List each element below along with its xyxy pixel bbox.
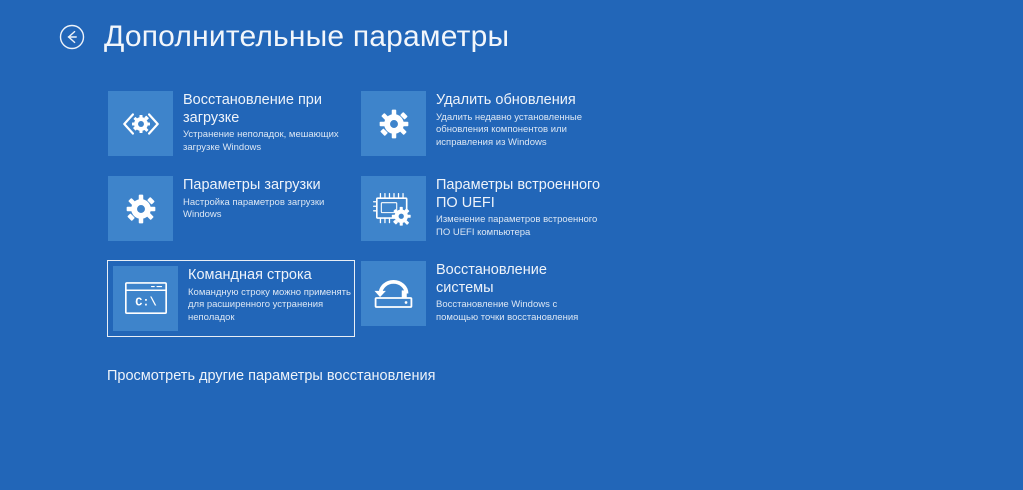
option-tile-startup-repair[interactable]: Восстановление при загрузке Устранение н… xyxy=(107,90,355,167)
option-title: Командная строка xyxy=(188,267,353,285)
page-title: Дополнительные параметры xyxy=(104,22,509,52)
option-description: Изменение параметров встроенного ПО UEFI… xyxy=(436,214,601,239)
system-restore-icon xyxy=(361,261,426,326)
option-description: Восстановление Windows с помощью точки в… xyxy=(436,299,601,324)
option-title: Восстановление системы xyxy=(436,262,607,297)
option-text: Восстановление при загрузке Устранение н… xyxy=(173,91,354,154)
option-description: Командную строку можно применять для рас… xyxy=(188,287,353,325)
page-header: Дополнительные параметры xyxy=(58,22,509,52)
view-more-recovery-options-link[interactable]: Просмотреть другие параметры восстановле… xyxy=(107,368,435,384)
option-title: Параметры загрузки xyxy=(183,177,348,195)
option-description: Устранение неполадок, мешающих загрузке … xyxy=(183,129,348,154)
options-column-left: Восстановление при загрузке Устранение н… xyxy=(107,90,355,345)
option-text: Восстановление системы Восстановление Wi… xyxy=(426,261,607,324)
option-tile-startup-settings[interactable]: Параметры загрузки Настройка параметров … xyxy=(107,175,355,252)
options-column-right: Удалить обновления Удалить недавно устан… xyxy=(360,90,608,345)
option-title: Удалить обновления xyxy=(436,92,601,110)
svg-text:C:\: C:\ xyxy=(135,295,156,309)
option-description: Настройка параметров загрузки Windows xyxy=(183,197,348,222)
startup-repair-icon xyxy=(108,91,173,156)
option-text: Удалить обновления Удалить недавно устан… xyxy=(426,91,601,149)
option-tile-uefi-firmware-settings[interactable]: Параметры встроенного ПО UEFI Изменение … xyxy=(360,175,608,252)
option-description: Удалить недавно установленные обновления… xyxy=(436,112,601,150)
command-prompt-icon: C:\ xyxy=(113,266,178,331)
uefi-chip-icon xyxy=(361,176,426,241)
option-text: Командная строка Командную строку можно … xyxy=(178,261,353,324)
option-title: Параметры встроенного ПО UEFI xyxy=(436,177,607,212)
option-title: Восстановление при загрузке xyxy=(183,92,354,127)
option-tile-uninstall-updates[interactable]: Удалить обновления Удалить недавно устан… xyxy=(360,90,608,167)
gear-icon xyxy=(108,176,173,241)
option-text: Параметры встроенного ПО UEFI Изменение … xyxy=(426,176,607,239)
option-tile-system-restore[interactable]: Восстановление системы Восстановление Wi… xyxy=(360,260,608,337)
gear-icon xyxy=(361,91,426,156)
circled-back-arrow-icon[interactable] xyxy=(58,23,86,51)
option-tile-command-prompt[interactable]: C:\ Командная строка Командную строку мо… xyxy=(107,260,355,337)
option-text: Параметры загрузки Настройка параметров … xyxy=(173,176,348,222)
